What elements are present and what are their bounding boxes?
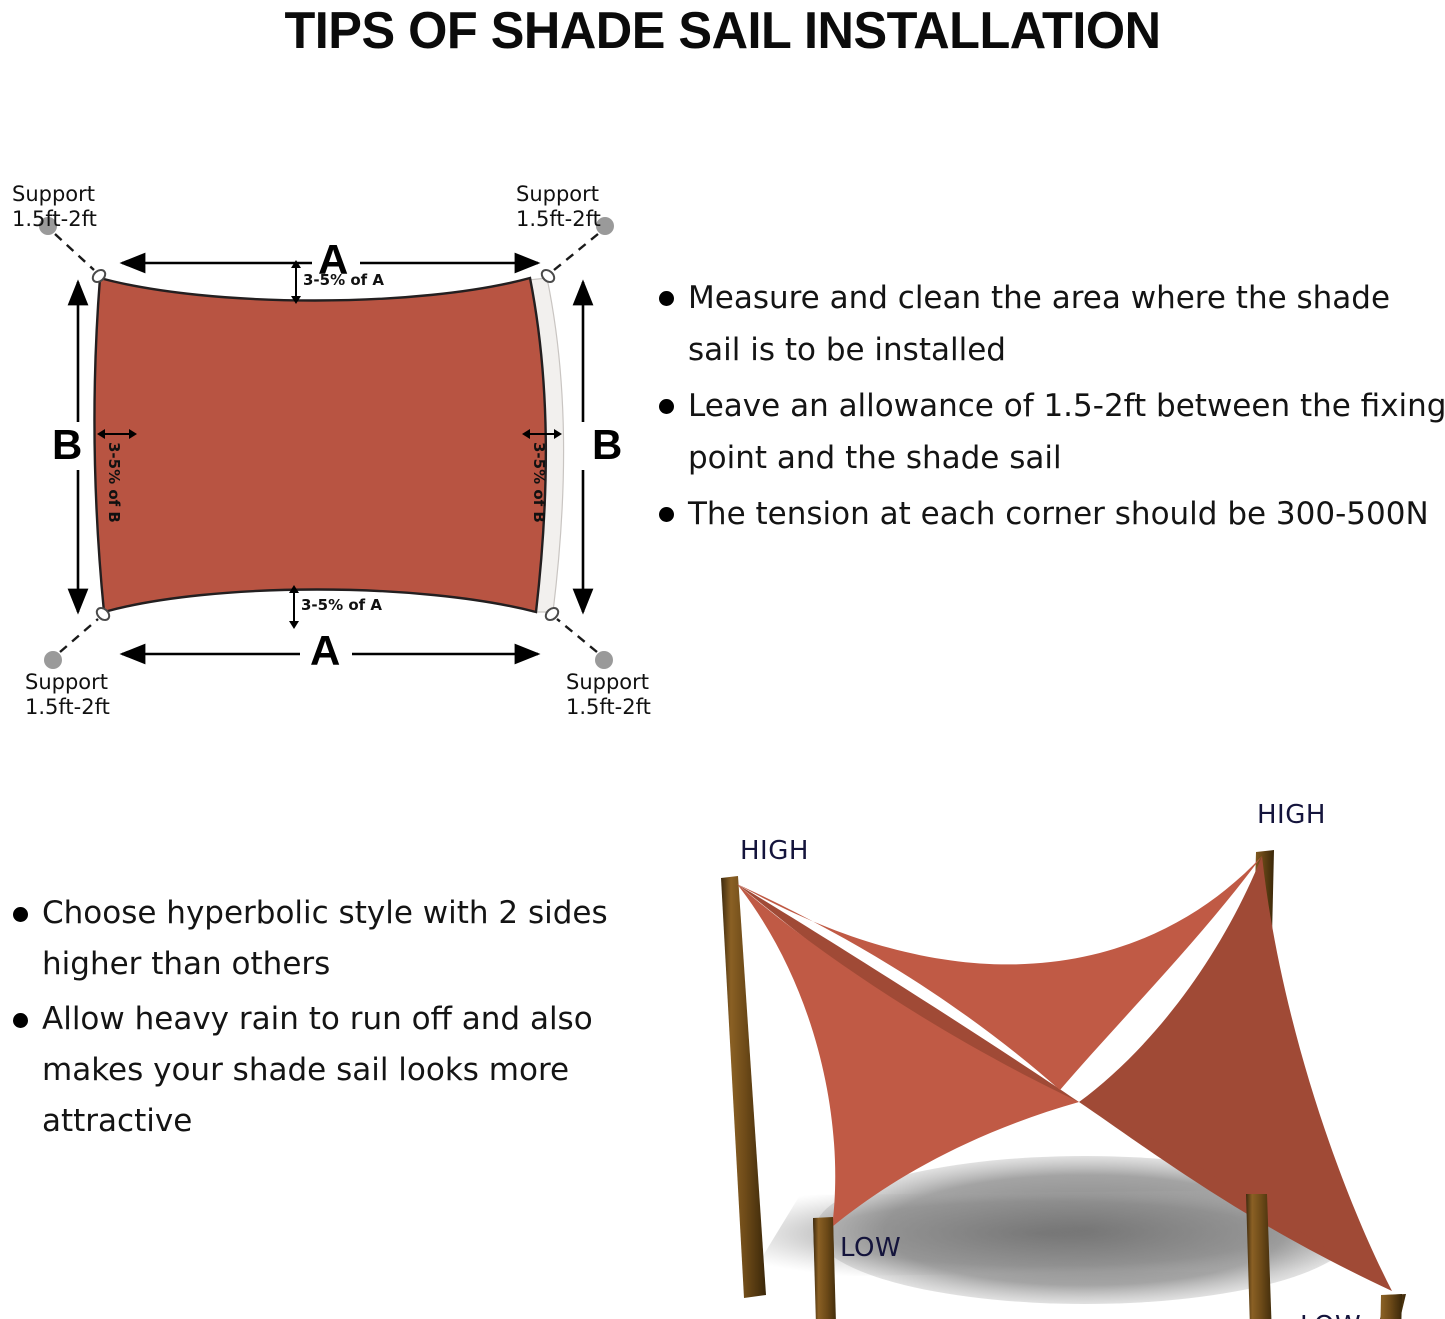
support-leader-bottom-left: [60, 619, 98, 652]
label-high-left: HIGH: [740, 836, 809, 866]
curvature-tick-bottom-arrow-down: [289, 621, 299, 629]
label-low-left: LOW: [840, 1233, 901, 1263]
support-label-bottom-left: Support 1.5ft-2ft: [25, 670, 110, 720]
shade-sail-fabric: [94, 278, 545, 612]
list-item: Measure and clean the area where the sha…: [650, 272, 1445, 376]
pole-low-right-body: [1376, 1294, 1402, 1319]
support-label-top-left: Support 1.5ft-2ft: [12, 182, 97, 232]
support-label-bottom-right: Support 1.5ft-2ft: [566, 670, 651, 720]
support-dot-bottom-right-icon: [595, 651, 613, 669]
list-item: The tension at each corner should be 300…: [650, 488, 1445, 540]
list-item: Choose hyperbolic style with 2 sides hig…: [4, 888, 624, 990]
list-item: Leave an allowance of 1.5-2ft between th…: [650, 380, 1445, 484]
hyperbolic-diagram-svg: [680, 790, 1445, 1319]
label-high-right: HIGH: [1257, 800, 1326, 830]
installation-tips-list: Measure and clean the area where the sha…: [650, 272, 1445, 544]
support-label-top-right: Support 1.5ft-2ft: [516, 182, 601, 232]
curvature-label-left: 3-5% of B: [106, 442, 122, 523]
support-dot-bottom-left-icon: [44, 651, 62, 669]
curvature-label-right: 3-5% of B: [531, 442, 547, 523]
hyperbolic-tips-list: Choose hyperbolic style with 2 sides hig…: [4, 888, 624, 1151]
infographic-page: TIPS OF SHADE SAIL INSTALLATION: [0, 0, 1445, 1319]
list-item: Allow heavy rain to run off and also mak…: [4, 994, 624, 1147]
support-leader-top-right: [554, 234, 598, 270]
label-low-right: LOW: [1300, 1311, 1361, 1319]
curvature-label-top: 3-5% of A: [303, 272, 384, 288]
pole-high-left: [721, 876, 766, 1298]
dimension-label-right-b: B: [592, 424, 622, 466]
curvature-label-bottom: 3-5% of A: [301, 597, 382, 613]
rectangular-sail-diagram: Support 1.5ft-2ft Support 1.5ft-2ft Supp…: [0, 160, 660, 730]
support-leader-bottom-right: [557, 619, 597, 652]
dimension-label-left-b: B: [52, 424, 82, 466]
page-title: TIPS OF SHADE SAIL INSTALLATION: [22, 0, 1424, 62]
dimension-label-bottom-a: A: [310, 630, 340, 672]
support-leader-top-left: [55, 234, 94, 270]
hyperbolic-sail-diagram: HIGH HIGH LOW LOW: [680, 790, 1445, 1319]
